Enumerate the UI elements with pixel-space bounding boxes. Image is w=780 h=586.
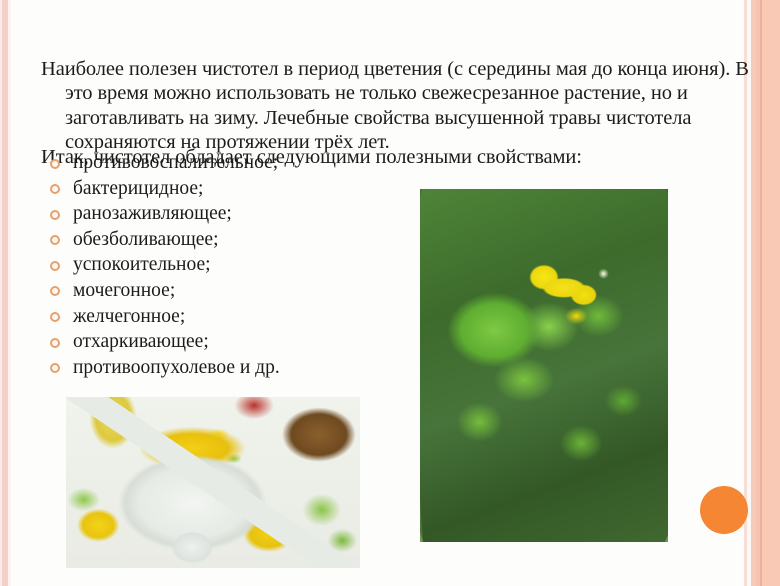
list-item-label: бактерицидное; bbox=[73, 178, 203, 199]
bullet-ring-icon bbox=[50, 210, 60, 220]
bullet-ring-icon bbox=[50, 235, 60, 245]
list-item-label: успокоительное; bbox=[73, 254, 211, 275]
list-item: противовоспалительное; bbox=[46, 150, 376, 176]
bullet-ring-icon bbox=[50, 261, 60, 271]
list-item: успокоительное; bbox=[46, 252, 376, 278]
bullet-ring-icon bbox=[50, 159, 60, 169]
list-item-label: отхаркивающее; bbox=[73, 331, 209, 352]
list-item: отхаркивающее; bbox=[46, 329, 376, 355]
properties-bullet-list: противовоспалительное; бактерицидное; ра… bbox=[46, 150, 376, 380]
list-item: мочегонное; bbox=[46, 278, 376, 304]
bullet-ring-icon bbox=[50, 363, 60, 373]
list-item: ранозаживляющее; bbox=[46, 201, 376, 227]
paragraph-intro: Наиболее полезен чистотел в период цвете… bbox=[41, 57, 769, 155]
list-item: обезболивающее; bbox=[46, 227, 376, 253]
list-item-label: мочегонное; bbox=[73, 280, 175, 301]
list-item-label: желчегонное; bbox=[73, 306, 185, 327]
list-item-label: противовоспалительное; bbox=[73, 152, 278, 173]
list-item: противоопухолевое и др. bbox=[46, 355, 376, 381]
left-edge-stripe bbox=[0, 0, 11, 586]
bullet-ring-icon bbox=[50, 338, 60, 348]
orange-circle-accent bbox=[700, 486, 748, 534]
list-item-label: ранозаживляющее; bbox=[73, 203, 232, 224]
presentation-slide: Наиболее полезен чистотел в период цвете… bbox=[0, 0, 780, 586]
list-item: желчегонное; bbox=[46, 304, 376, 330]
celandine-plant-photo bbox=[420, 189, 668, 542]
list-item: бактерицидное; bbox=[46, 176, 376, 202]
bullet-ring-icon bbox=[50, 312, 60, 322]
list-item-label: противоопухолевое и др. bbox=[73, 357, 280, 378]
mortar-and-pestle-photo bbox=[66, 397, 360, 568]
list-item-label: обезболивающее; bbox=[73, 229, 219, 250]
bullet-ring-icon bbox=[50, 286, 60, 296]
bullet-ring-icon bbox=[50, 184, 60, 194]
